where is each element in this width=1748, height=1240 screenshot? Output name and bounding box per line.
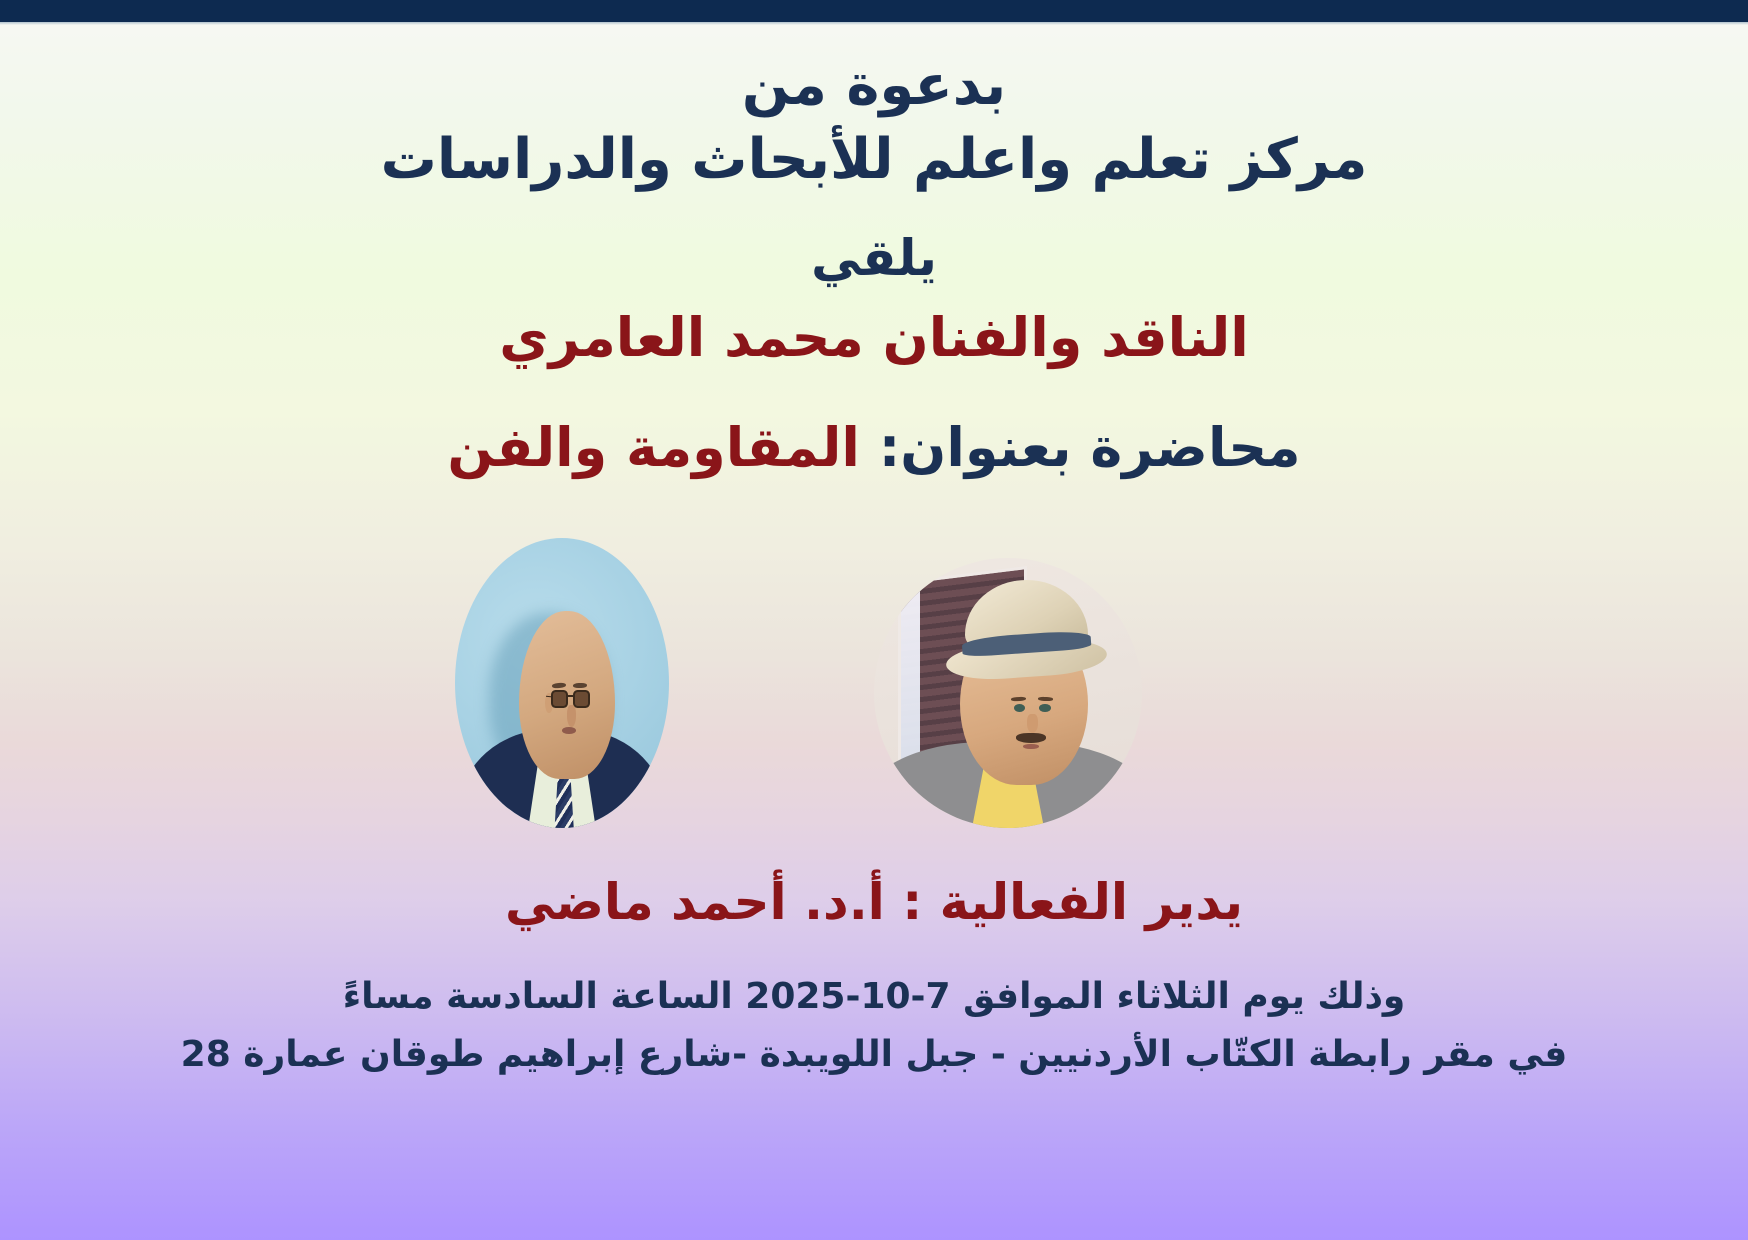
sunglass-lens-b xyxy=(573,690,590,709)
sunglass-bridge xyxy=(568,695,574,697)
nose-shape-right xyxy=(1027,714,1039,733)
sunglass-lens-a xyxy=(551,690,568,709)
mouth-shape-right xyxy=(1023,744,1040,749)
speaker-name: الناقد والفنان محمد العامري xyxy=(0,305,1748,371)
speaker-photo-left xyxy=(455,538,669,828)
mouth-shape-left xyxy=(562,727,576,735)
speaker-photo-right xyxy=(874,558,1142,828)
eyebrow-right-a xyxy=(1011,697,1027,702)
eye-right-a xyxy=(1014,704,1026,712)
eye-right-b xyxy=(1039,704,1051,712)
organization-name: مركز تعلم واعلم للأبحاث والدراسات xyxy=(0,126,1748,194)
top-accent-bar-shadow xyxy=(0,22,1748,25)
lecture-title-row: محاضرة بعنوان: المقاومة والفن xyxy=(0,415,1748,481)
mustache-shape xyxy=(1016,733,1046,743)
lecture-title: المقاومة والفن xyxy=(447,416,860,479)
delivers-verb: يلقي xyxy=(0,228,1748,289)
moderator-text: يدير الفعالية : أ.د. أحمد ماضي xyxy=(0,872,1748,933)
event-address: في مقر رابطة الكتّاب الأردنيين - جبل الل… xyxy=(0,1033,1748,1077)
eyebrow-left-b xyxy=(573,683,588,689)
eyebrow-left-a xyxy=(552,682,567,689)
lecture-label: محاضرة بعنوان: xyxy=(879,416,1301,479)
nose-shape-left xyxy=(567,705,576,727)
window-light-strip xyxy=(901,578,920,780)
invitation-from-text: بدعوة من xyxy=(0,52,1748,120)
event-datetime: وذلك يوم الثلاثاء الموافق 7-10-2025 السا… xyxy=(0,975,1748,1019)
top-accent-bar xyxy=(0,0,1748,22)
eyebrow-right-b xyxy=(1038,697,1054,702)
event-poster: بدعوة من مركز تعلم واعلم للأبحاث والدراس… xyxy=(0,0,1748,1240)
